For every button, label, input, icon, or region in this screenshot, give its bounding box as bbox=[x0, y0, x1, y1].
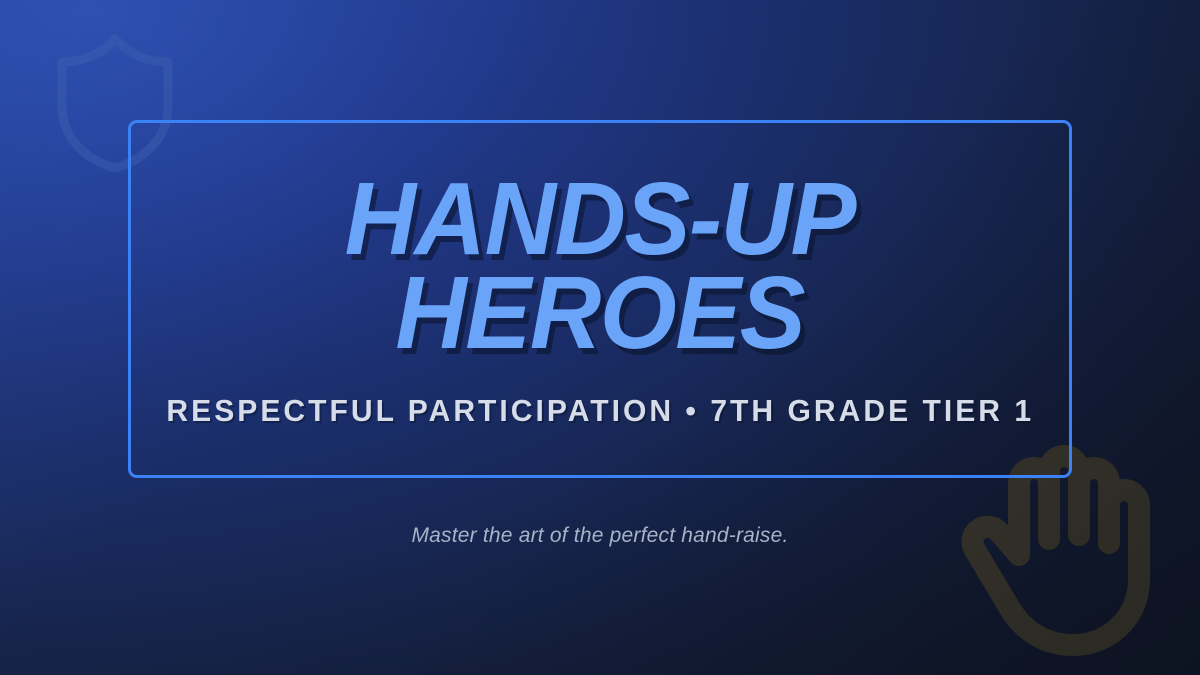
title-frame: HANDS-UP HEROES RESPECTFUL PARTICIPATION… bbox=[128, 120, 1072, 478]
tagline: Master the art of the perfect hand-raise… bbox=[0, 524, 1200, 548]
subtitle: RESPECTFUL PARTICIPATION • 7TH GRADE TIE… bbox=[166, 393, 1034, 429]
page-title: HANDS-UP HEROES bbox=[335, 169, 865, 363]
slide-canvas: HANDS-UP HEROES RESPECTFUL PARTICIPATION… bbox=[0, 0, 1200, 675]
headline-line-2: HEROES bbox=[345, 263, 855, 363]
headline-line-1: HANDS-UP bbox=[345, 169, 855, 269]
